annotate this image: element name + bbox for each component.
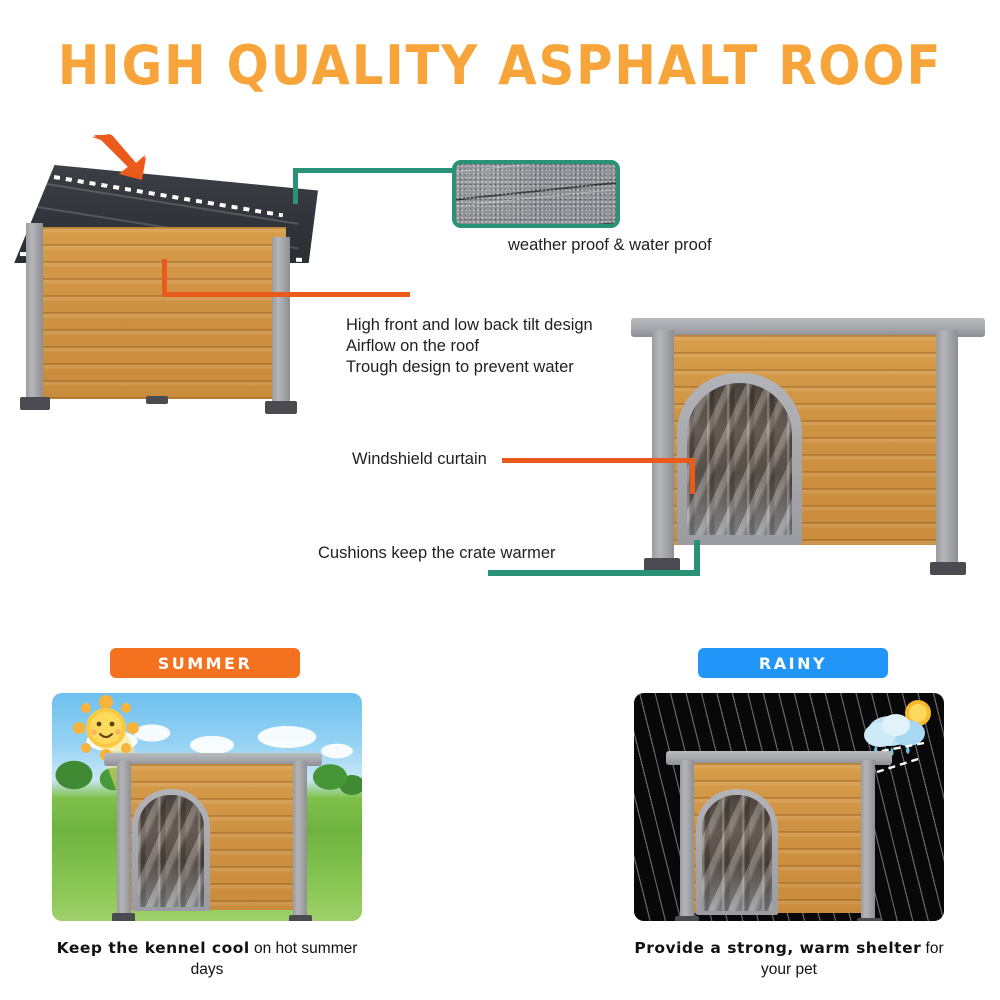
corner-post-right-front	[936, 330, 958, 566]
caption-rainy-bold: Provide a strong, warm shelter	[634, 939, 921, 957]
badge-summer: SUMMER	[110, 648, 300, 678]
wood-panel-wall	[40, 227, 286, 399]
arrow-down-right-icon	[90, 133, 148, 181]
connector-orange-windshield-h	[502, 458, 694, 463]
foot-middle	[146, 396, 168, 404]
shingle-grain-texture	[456, 164, 616, 224]
foot-left	[20, 397, 50, 410]
windshield-curtain	[687, 383, 792, 535]
corner-post-right	[272, 237, 290, 407]
connector-green-horizontal	[293, 168, 453, 173]
asphalt-shingle-closeup	[452, 160, 620, 228]
caption-summer-bold: Keep the kennel cool	[57, 939, 250, 957]
dog-house-front-view	[625, 318, 991, 583]
scene-summer	[52, 693, 362, 921]
windshield-curtain-label: Windshield curtain	[352, 450, 487, 469]
caption-rainy: Provide a strong, warm shelter for your …	[634, 938, 944, 980]
dog-house-summer	[100, 753, 325, 921]
corner-post-left	[26, 223, 43, 405]
tilt-line-1: High front and low back tilt design	[346, 315, 593, 336]
connector-orange-windshield-v	[690, 458, 695, 494]
connector-orange-vertical	[162, 259, 167, 295]
caption-summer: Keep the kennel cool on hot summer days	[52, 938, 362, 980]
shingle-caption: weather proof & water proof	[508, 236, 712, 255]
corner-post-left-front	[652, 330, 674, 562]
tilt-design-callout: High front and low back tilt design Airf…	[346, 315, 593, 378]
foot-right	[265, 401, 297, 414]
dog-house-rainy	[662, 751, 894, 921]
infographic-page: HIGH QUALITY ASPHALT ROOF weather proof …	[0, 0, 1000, 1000]
page-title: HIGH QUALITY ASPHALT ROOF	[40, 34, 960, 97]
cushions-label: Cushions keep the crate warmer	[318, 544, 556, 563]
scene-rainy	[634, 693, 944, 921]
badge-rainy: RAINY	[698, 648, 888, 678]
connector-green-vertical	[293, 168, 298, 204]
connector-green-cushions-v	[694, 540, 700, 576]
tilt-line-3: Trough design to prevent water	[346, 357, 593, 378]
foot-right-front	[930, 562, 966, 575]
connector-orange-horizontal	[162, 292, 410, 297]
tilt-line-2: Airflow on the roof	[346, 336, 593, 357]
connector-green-cushions-h	[488, 570, 700, 576]
